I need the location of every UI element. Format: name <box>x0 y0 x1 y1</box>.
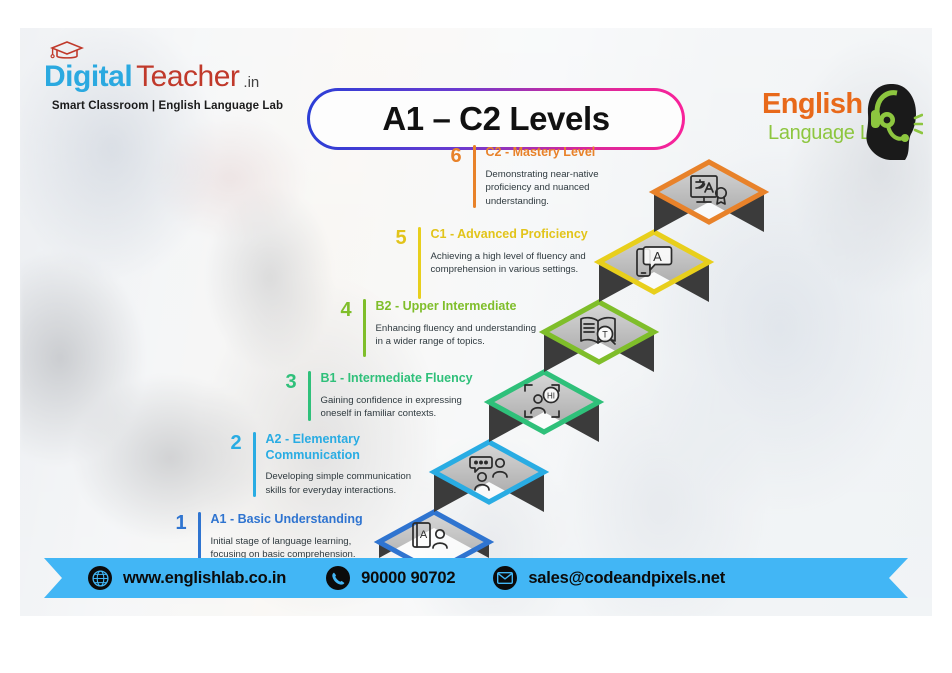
footer-website[interactable]: www.englishlab.co.in <box>88 566 286 590</box>
step-2 <box>434 442 544 512</box>
globe-icon <box>88 566 112 590</box>
level-description-3: Gaining confidence in expressing oneself… <box>321 394 484 421</box>
level-heading-1: A1 - Basic Understanding <box>211 512 369 528</box>
svg-text:HI: HI <box>547 392 555 401</box>
step-4: T <box>544 302 654 372</box>
footer-phone[interactable]: 90000 90702 <box>326 566 455 590</box>
footer-website-text: www.englishlab.co.in <box>123 569 286 588</box>
level-block-5: 5 C1 - Advanced Proficiency Achieving a … <box>388 227 588 299</box>
level-block-3: 3 B1 - Intermediate Fluency Gaining conf… <box>278 371 483 421</box>
svg-text:T: T <box>602 330 608 340</box>
level-number-4: 4 <box>333 299 359 320</box>
level-heading-4: B2 - Upper Intermediate <box>376 299 539 315</box>
phone-icon <box>326 566 350 590</box>
contact-footer: www.englishlab.co.in 90000 90702 sales@c… <box>44 558 908 598</box>
level-description-4: Enhancing fluency and understanding in a… <box>376 322 539 349</box>
level-block-4: 4 B2 - Upper Intermediate Enhancing flue… <box>333 299 538 357</box>
level-block-1: 1 A1 - Basic Understanding Initial stage… <box>168 512 368 562</box>
level-block-6: 6 C2 - Mastery Level Demonstrating near-… <box>443 145 643 208</box>
level-heading-6: C2 - Mastery Level <box>486 145 644 161</box>
step-5: A <box>599 232 709 302</box>
step-3: HI <box>489 372 599 442</box>
level-heading-2: A2 - Elementary Communication <box>266 432 422 463</box>
svg-text:A: A <box>653 249 662 264</box>
level-block-2: 2 A2 - Elementary Communication Developi… <box>223 432 421 497</box>
level-heading-5: C1 - Advanced Proficiency <box>431 227 589 243</box>
footer-phone-text: 90000 90702 <box>361 569 455 588</box>
level-heading-3: B1 - Intermediate Fluency <box>321 371 484 387</box>
level-number-6: 6 <box>443 145 469 166</box>
step-6 <box>654 162 764 232</box>
footer-email-text: sales@codeandpixels.net <box>528 569 725 588</box>
level-description-1: Initial stage of language learning, focu… <box>211 535 369 562</box>
level-number-5: 5 <box>388 227 414 248</box>
level-description-5: Achieving a high level of fluency and co… <box>431 250 589 277</box>
envelope-icon <box>493 566 517 590</box>
level-number-1: 1 <box>168 512 194 533</box>
level-number-2: 2 <box>223 432 249 453</box>
infographic-poster: Digital Teacher .in Smart Classroom | En… <box>20 28 932 616</box>
svg-text:A: A <box>420 529 428 541</box>
footer-email[interactable]: sales@codeandpixels.net <box>493 566 725 590</box>
level-description-2: Developing simple communication skills f… <box>266 470 422 497</box>
level-description-6: Demonstrating near-native proficiency an… <box>486 168 644 209</box>
level-number-3: 3 <box>278 371 304 392</box>
